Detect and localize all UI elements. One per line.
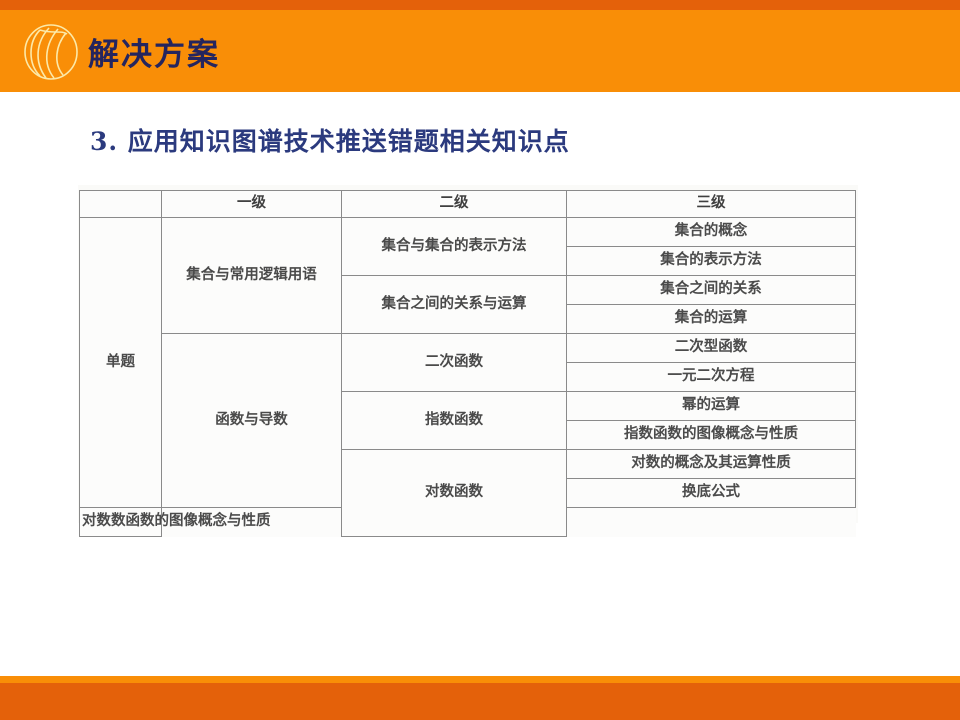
table-header-cell-empty [80, 191, 162, 218]
cell-level3-1-2-1: 换底公式 [567, 479, 856, 508]
page-title: 3. 应用知识图谱技术推送错题相关知识点 [90, 122, 570, 158]
cell-level3-1-2-0: 对数的概念及其运算性质 [567, 450, 856, 479]
cell-level3-0-0-1: 集合的表示方法 [567, 247, 856, 276]
cell-level2-0-0: 集合与集合的表示方法 [342, 218, 567, 276]
table-header-cell-level3: 三级 [567, 191, 856, 218]
footer-banner [0, 683, 960, 720]
cell-level3-0-0-0: 集合的概念 [567, 218, 856, 247]
cell-level3-1-1-1: 指数函数的图像概念与性质 [567, 421, 856, 450]
header-title: 解决方案 [88, 40, 220, 71]
cell-level2-1-2: 对数函数 [342, 450, 567, 537]
cell-level1-1: 函数与导数 [162, 334, 342, 508]
cell-level3-1-2-2: 对数数函数的图像概念与性质 [80, 508, 162, 537]
header-top-strip [0, 0, 960, 10]
cell-level1-0: 集合与常用逻辑用语 [162, 218, 342, 334]
knowledge-graph-table: 一级 二级 三级 单题 集合与常用逻辑用语 集合与集合的表示方法 集合的概念 集… [79, 190, 856, 537]
cell-level3-1-0-0: 二次型函数 [567, 334, 856, 363]
cell-level3-1-0-1: 一元二次方程 [567, 363, 856, 392]
cell-level3-1-1-0: 幂的运算 [567, 392, 856, 421]
footer-accent-line [0, 676, 960, 683]
knowledge-graph-table-image: 一级 二级 三级 单题 集合与常用逻辑用语 集合与集合的表示方法 集合的概念 集… [78, 185, 858, 523]
cell-level2-0-1: 集合之间的关系与运算 [342, 276, 567, 334]
cell-level3-0-1-1: 集合的运算 [567, 305, 856, 334]
cell-level2-1-0: 二次函数 [342, 334, 567, 392]
cell-level3-0-1-0: 集合之间的关系 [567, 276, 856, 305]
spiral-oval-logo-icon [22, 22, 80, 82]
table-header-row: 一级 二级 三级 [80, 191, 856, 218]
table-row: 函数与导数 二次函数 二次型函数 [80, 334, 856, 363]
table-header-cell-level1: 一级 [162, 191, 342, 218]
table-header-cell-level2: 二级 [342, 191, 567, 218]
cell-level2-1-1: 指数函数 [342, 392, 567, 450]
table-row: 单题 集合与常用逻辑用语 集合与集合的表示方法 集合的概念 [80, 218, 856, 247]
cell-root-label: 单题 [80, 218, 162, 508]
